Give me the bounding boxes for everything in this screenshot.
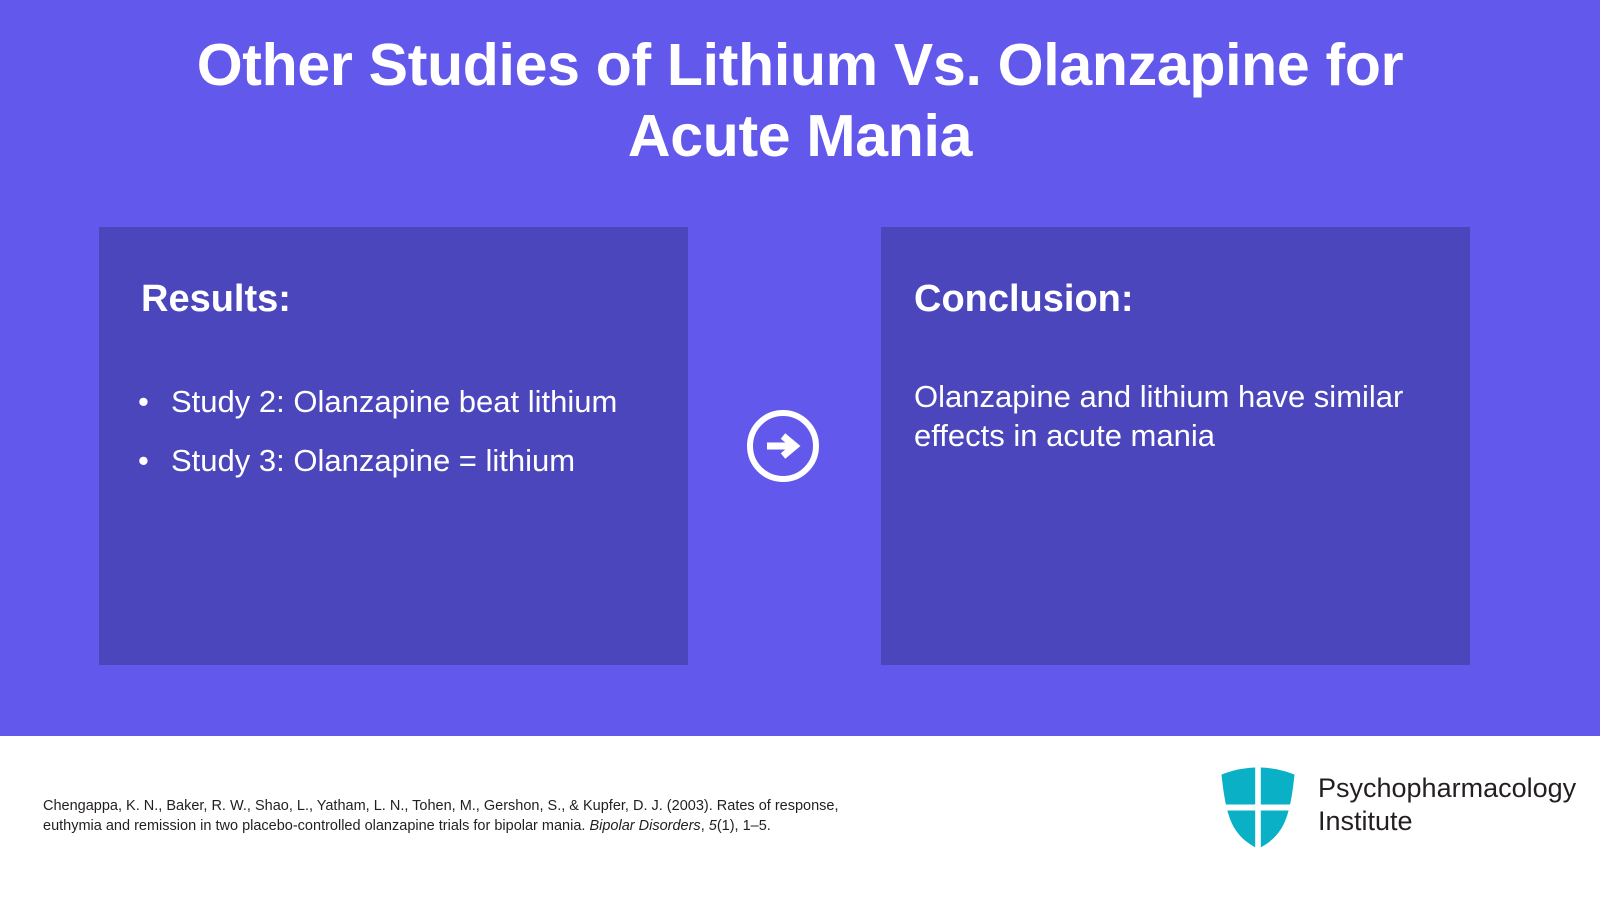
arrow-right-circle-icon — [745, 408, 821, 484]
results-panel: Results: • Study 2: Olanzapine beat lith… — [99, 227, 688, 665]
citation-authors-year: Chengappa, K. N., Baker, R. W., Shao, L.… — [43, 798, 717, 814]
list-item: • Study 3: Olanzapine = lithium — [131, 441, 651, 480]
citation-reference: Chengappa, K. N., Baker, R. W., Shao, L.… — [43, 796, 873, 836]
results-bullet-list: • Study 2: Olanzapine beat lithium • Stu… — [131, 382, 651, 501]
citation-journal: Bipolar Disorders — [589, 818, 700, 834]
footer: Chengappa, K. N., Baker, R. W., Shao, L.… — [0, 736, 1600, 899]
shield-logo-icon — [1216, 760, 1300, 850]
list-item: • Study 2: Olanzapine beat lithium — [131, 382, 651, 421]
list-item-label: Study 2: Olanzapine beat lithium — [171, 384, 617, 419]
citation-volume: 5 — [709, 818, 717, 834]
slide-body: Other Studies of Lithium Vs. Olanzapine … — [0, 0, 1600, 736]
slide: Other Studies of Lithium Vs. Olanzapine … — [0, 0, 1600, 899]
bullet-dot-icon: • — [138, 382, 149, 421]
brand-name-line1: Psychopharmacology — [1318, 773, 1576, 803]
conclusion-heading: Conclusion: — [914, 279, 1134, 321]
page-title: Other Studies of Lithium Vs. Olanzapine … — [120, 30, 1480, 172]
conclusion-body: Olanzapine and lithium have similar effe… — [914, 377, 1414, 456]
citation-issue-pages: (1), 1–5. — [717, 818, 771, 834]
list-item-label: Study 3: Olanzapine = lithium — [171, 443, 575, 478]
brand-name: Psychopharmacology Institute — [1318, 772, 1576, 839]
citation-volume-separator: , — [701, 818, 709, 834]
brand-logo: Psychopharmacology Institute — [1216, 760, 1576, 850]
results-heading: Results: — [141, 279, 291, 321]
brand-name-line2: Institute — [1318, 806, 1413, 836]
conclusion-panel: Conclusion: Olanzapine and lithium have … — [881, 227, 1470, 665]
bullet-dot-icon: • — [138, 441, 149, 480]
